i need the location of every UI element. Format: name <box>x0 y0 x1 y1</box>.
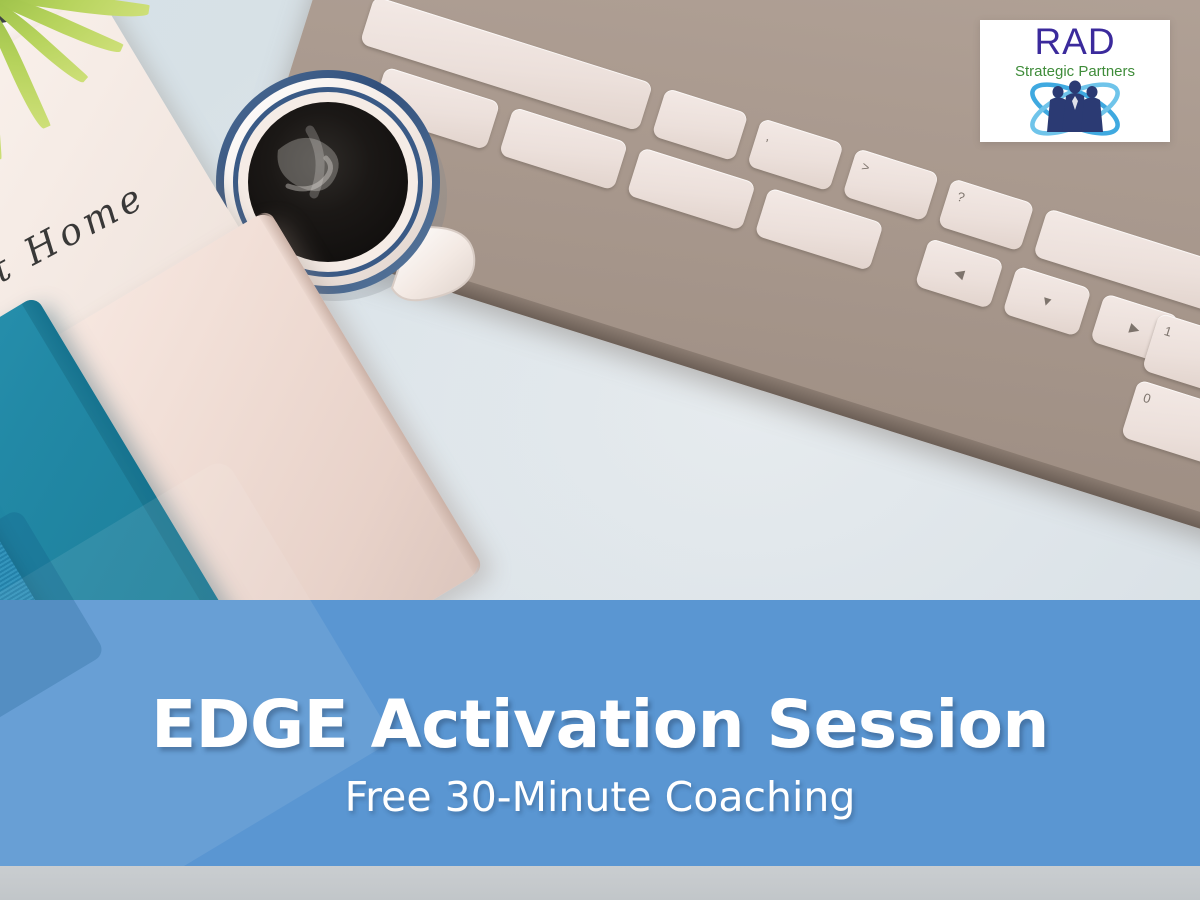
banner-subtitle: Free 30-Minute Coaching <box>0 777 1200 818</box>
banner-title: EDGE Activation Session <box>0 692 1200 758</box>
logo-card: RAD Strategic Partners <box>980 20 1170 142</box>
logo-brand-text: RAD <box>980 23 1170 62</box>
plant <box>0 0 180 160</box>
bottom-strip <box>0 866 1200 900</box>
logo-tagline-text: Strategic Partners <box>980 64 1170 79</box>
promo-graphic-canvas: , > ? shift clear ◀ ▼ ▶ = 1 2 3 + 0 . en… <box>0 0 1200 900</box>
logo-orbit-people-icon <box>980 78 1170 140</box>
promo-banner: EDGE Activation Session Free 30-Minute C… <box>0 600 1200 866</box>
